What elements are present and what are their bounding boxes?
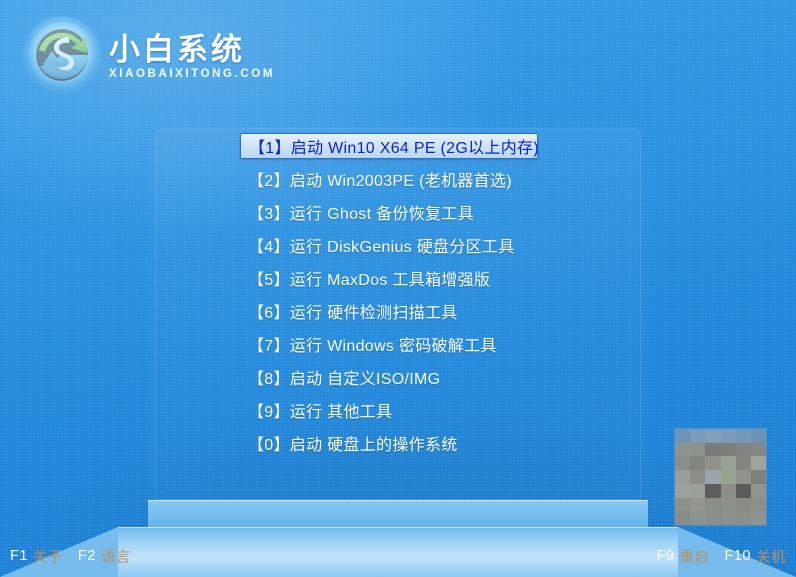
hint-f2-key: F2 [78,548,96,564]
mosaic-tile-28 [736,484,751,498]
mosaic-tile-19 [690,470,705,484]
mosaic-tile-41 [751,511,766,525]
hint-f2-label: 语言 [101,546,131,567]
mosaic-tile-12 [675,456,690,470]
mosaic-tile-16 [736,456,751,470]
mosaic-tile-2 [705,429,720,443]
mosaic-tile-31 [690,498,705,512]
mosaic-tile-35 [751,498,766,512]
laptop-base-lower [118,527,678,577]
mosaic-tile-4 [736,429,751,443]
menu-item-8[interactable]: 【8】启动 自定义ISO/IMG [240,364,560,390]
xiaobai-circular-logo-icon [27,20,97,90]
brand-wordmark: 小白系统 XIAOBAIXITONG.COM [109,30,275,80]
hint-f9-key: F9 [657,548,675,564]
mosaic-tile-29 [751,484,766,498]
logo-glow [23,16,101,94]
menu-item-6[interactable]: 【6】运行 硬件检测扫描工具 [240,298,560,324]
menu-item-2[interactable]: 【2】启动 Win2003PE (老机器首选) [240,166,560,192]
hint-f1-label: 关于 [33,546,63,567]
brand-name-en: XIAOBAIXITONG.COM [109,69,275,81]
brand-logo: 小白系统 XIAOBAIXITONG.COM [27,20,275,90]
mosaic-tile-10 [736,443,751,457]
mosaic-tile-9 [721,443,736,457]
pe-boot-menu-screen: 小白系统 XIAOBAIXITONG.COM 【1】启动 Win10 X64 P… [0,0,796,577]
hint-f10-label: 关机 [756,546,786,567]
hints-right: F9 重启 F10 关机 [657,546,786,567]
hint-f1-key: F1 [10,548,28,564]
mosaic-tile-17 [751,456,766,470]
mosaic-tile-34 [736,498,751,512]
hint-f9-label: 重启 [680,546,710,567]
mosaic-tile-8 [705,443,720,457]
hint-f9-restart[interactable]: F9 重启 [657,546,710,567]
mosaic-tile-32 [705,498,720,512]
mosaic-tile-33 [721,498,736,512]
mosaic-tile-11 [751,443,766,457]
menu-item-3[interactable]: 【3】运行 Ghost 备份恢复工具 [240,199,560,225]
mosaic-tile-1 [690,429,705,443]
mosaic-tile-21 [721,470,736,484]
mosaic-tile-26 [705,484,720,498]
mosaic-tile-24 [675,484,690,498]
mosaic-tile-5 [751,429,766,443]
brand-name-cn: 小白系统 [109,34,275,67]
mosaic-tile-7 [690,443,705,457]
mosaic-tile-13 [690,456,705,470]
mosaic-tile-0 [675,429,690,443]
mosaic-tile-15 [721,456,736,470]
function-key-hints: F1 关于 F2 语言 F9 重启 F10 关机 [0,545,796,567]
mosaic-tile-3 [721,429,736,443]
hint-f2-language[interactable]: F2 语言 [78,546,131,567]
boot-menu-list: 【1】启动 Win10 X64 PE (2G以上内存) 【2】启动 Win200… [240,133,560,463]
mosaic-tile-22 [736,470,751,484]
mosaic-tile-14 [705,456,720,470]
mosaic-tile-6 [675,443,690,457]
mosaic-tile-30 [675,498,690,512]
mosaic-tile-25 [690,484,705,498]
hint-f10-key: F10 [725,548,752,564]
mosaic-tile-36 [675,511,690,525]
mosaic-tile-40 [736,511,751,525]
mosaic-tile-38 [705,511,720,525]
mosaic-tile-39 [721,511,736,525]
censored-mosaic-block [675,429,766,525]
laptop-base-upper [148,500,648,527]
mosaic-tile-37 [690,511,705,525]
mosaic-tile-20 [705,470,720,484]
menu-item-7[interactable]: 【7】运行 Windows 密码破解工具 [240,331,560,357]
hint-f10-shutdown[interactable]: F10 关机 [725,546,787,567]
mosaic-tile-27 [721,484,736,498]
menu-item-0[interactable]: 【0】启动 硬盘上的操作系统 [240,430,560,456]
hint-f1-about[interactable]: F1 关于 [10,546,63,567]
hints-left: F1 关于 F2 语言 [10,546,131,567]
menu-item-9[interactable]: 【9】运行 其他工具 [240,397,560,423]
mosaic-tile-18 [675,470,690,484]
menu-item-4[interactable]: 【4】运行 DiskGenius 硬盘分区工具 [240,232,560,258]
menu-item-1[interactable]: 【1】启动 Win10 X64 PE (2G以上内存) [240,133,538,159]
menu-item-5[interactable]: 【5】运行 MaxDos 工具箱增强版 [240,265,560,291]
mosaic-tile-23 [751,470,766,484]
